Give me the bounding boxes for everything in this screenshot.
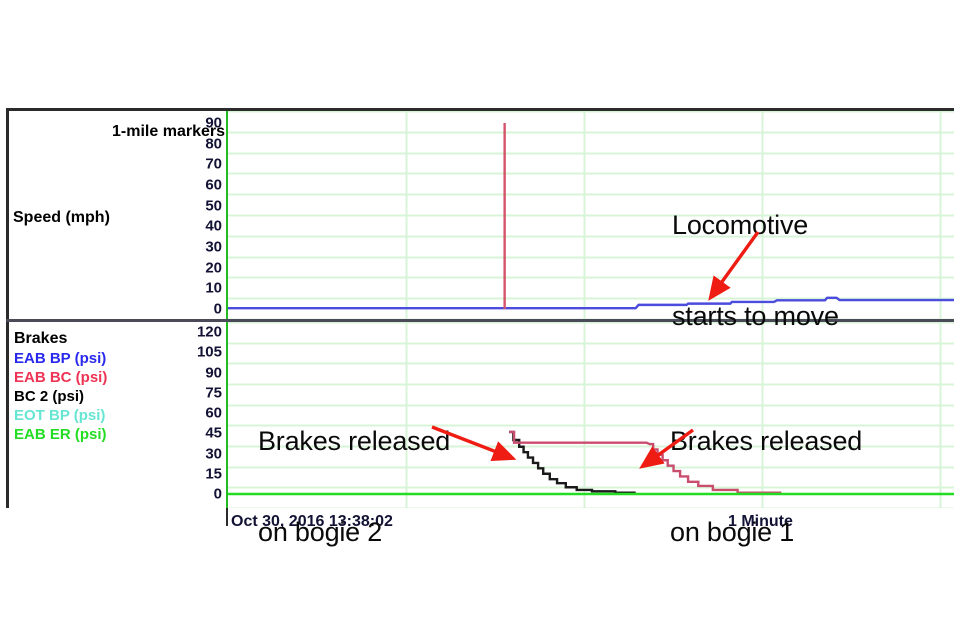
brake-y-axis-ticks: 1201059075604530150 xyxy=(184,322,222,508)
y-tick-label: 75 xyxy=(205,385,222,400)
annotation-bogie1: Brakes released on bogie 1 xyxy=(670,366,862,608)
annotation-bogie1-line1: Brakes released xyxy=(670,426,862,456)
y-tick-label: 60 xyxy=(205,178,222,193)
y-tick-label: 105 xyxy=(197,345,222,360)
speed-plot-area xyxy=(226,111,954,319)
y-tick-label: 60 xyxy=(205,406,222,421)
brake-label-column: Brakes EAB BP (psi)EAB BC (psi)BC 2 (psi… xyxy=(6,322,226,508)
y-tick-label: 80 xyxy=(205,136,222,151)
y-tick-label: 45 xyxy=(205,426,222,441)
y-tick-label: 30 xyxy=(205,240,222,255)
legend-item: EAB BC (psi) xyxy=(14,369,107,386)
y-tick-label: 90 xyxy=(205,116,222,131)
y-tick-label: 30 xyxy=(205,446,222,461)
annotation-bogie2: Brakes released on bogie 2 xyxy=(258,366,450,608)
chart-screenshot: 1-mile markers Speed (mph) 9080706050403… xyxy=(0,0,960,640)
legend-item: EAB BP (psi) xyxy=(14,350,107,367)
legend-item: EAB ER (psi) xyxy=(14,426,107,443)
y-tick-label: 90 xyxy=(205,365,222,380)
y-tick-label: 50 xyxy=(205,198,222,213)
y-tick-label: 120 xyxy=(197,325,222,340)
y-tick-label: 70 xyxy=(205,157,222,172)
brake-legend: Brakes EAB BP (psi)EAB BC (psi)BC 2 (psi… xyxy=(14,330,107,443)
speed-y-axis-ticks: 9080706050403020100 xyxy=(184,111,222,319)
annotation-locomotive-line1: Locomotive xyxy=(672,210,839,240)
time-axis-tick xyxy=(226,508,228,526)
y-tick-label: 0 xyxy=(214,302,222,317)
speed-label-column: 1-mile markers Speed (mph) 9080706050403… xyxy=(6,111,226,319)
legend-item: EOT BP (psi) xyxy=(14,407,107,424)
annotation-locomotive-line2: starts to move xyxy=(672,301,839,331)
brakes-title: Brakes xyxy=(14,330,107,348)
annotation-bogie2-line1: Brakes released xyxy=(258,426,450,456)
legend-item: BC 2 (psi) xyxy=(14,388,107,405)
speed-gridlines xyxy=(228,111,954,319)
y-tick-label: 10 xyxy=(205,281,222,296)
y-tick-label: 40 xyxy=(205,219,222,234)
y-tick-label: 20 xyxy=(205,260,222,275)
brake-legend-list: EAB BP (psi)EAB BC (psi)BC 2 (psi)EOT BP… xyxy=(14,350,107,443)
y-tick-label: 15 xyxy=(205,466,222,481)
annotation-bogie2-line2: on bogie 2 xyxy=(258,517,450,547)
speed-plot-svg xyxy=(228,111,954,319)
y-tick-label: 0 xyxy=(214,487,222,502)
annotation-locomotive: Locomotive starts to move xyxy=(672,150,839,392)
annotation-bogie1-line2: on bogie 1 xyxy=(670,517,862,547)
